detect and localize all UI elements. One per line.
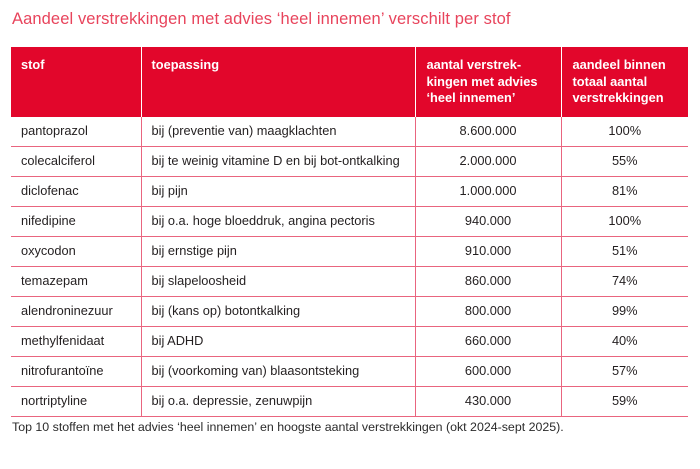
- table-header: stof toepassing aantal verstrek- kingen …: [11, 47, 688, 117]
- table-row: methylfenidaat bij ADHD 660.000 40%: [11, 327, 688, 357]
- cell-aantal: 910.000: [415, 237, 561, 267]
- cell-toepassing: bij pijn: [141, 177, 415, 207]
- table-row: diclofenac bij pijn 1.000.000 81%: [11, 177, 688, 207]
- cell-aantal: 660.000: [415, 327, 561, 357]
- table-row: nortriptyline bij o.a. depressie, zenuwp…: [11, 387, 688, 417]
- table-row: nitrofurantoïne bij (voorkoming van) bla…: [11, 357, 688, 387]
- table-header-row: stof toepassing aantal verstrek- kingen …: [11, 47, 688, 117]
- table-row: alendroninezuur bij (kans op) botontkalk…: [11, 297, 688, 327]
- table-container: stof toepassing aantal verstrek- kingen …: [11, 47, 688, 417]
- column-header-aantal-verstrekkingen: aantal verstrek- kingen met advies ‘heel…: [415, 47, 561, 117]
- table-body: pantoprazol bij (preventie van) maagklac…: [11, 117, 688, 417]
- cell-aandeel: 59%: [561, 387, 688, 417]
- cell-stof: pantoprazol: [11, 117, 141, 147]
- cell-aantal: 1.000.000: [415, 177, 561, 207]
- column-header-aandeel-line-2: totaal aantal: [573, 74, 679, 91]
- cell-aantal: 940.000: [415, 207, 561, 237]
- cell-stof: nortriptyline: [11, 387, 141, 417]
- cell-aandeel: 100%: [561, 117, 688, 147]
- cell-toepassing: bij o.a. depressie, zenuwpijn: [141, 387, 415, 417]
- cell-toepassing: bij ernstige pijn: [141, 237, 415, 267]
- cell-aandeel: 99%: [561, 297, 688, 327]
- cell-stof: methylfenidaat: [11, 327, 141, 357]
- table-row: temazepam bij slapeloosheid 860.000 74%: [11, 267, 688, 297]
- medicines-table: stof toepassing aantal verstrek- kingen …: [11, 47, 688, 417]
- page-title: Aandeel verstrekkingen met advies ‘heel …: [12, 8, 688, 30]
- table-row: oxycodon bij ernstige pijn 910.000 51%: [11, 237, 688, 267]
- table-row: colecalciferol bij te weinig vitamine D …: [11, 147, 688, 177]
- cell-aandeel: 100%: [561, 207, 688, 237]
- cell-stof: nifedipine: [11, 207, 141, 237]
- column-header-stof: stof: [11, 47, 141, 117]
- column-header-aantal-line-2: kingen met advies: [427, 74, 551, 91]
- cell-toepassing: bij slapeloosheid: [141, 267, 415, 297]
- column-header-aandeel-line-3: verstrekkingen: [573, 90, 679, 107]
- cell-aandeel: 74%: [561, 267, 688, 297]
- cell-aandeel: 55%: [561, 147, 688, 177]
- cell-toepassing: bij o.a. hoge bloeddruk, angina pectoris: [141, 207, 415, 237]
- cell-aandeel: 51%: [561, 237, 688, 267]
- cell-aandeel: 81%: [561, 177, 688, 207]
- column-header-toepassing: toepassing: [141, 47, 415, 117]
- cell-aandeel: 40%: [561, 327, 688, 357]
- cell-aantal: 600.000: [415, 357, 561, 387]
- infographic-table-page: Aandeel verstrekkingen met advies ‘heel …: [0, 0, 700, 469]
- cell-aantal: 2.000.000: [415, 147, 561, 177]
- column-header-aantal-line-1: aantal verstrek-: [427, 57, 551, 74]
- cell-toepassing: bij ADHD: [141, 327, 415, 357]
- cell-stof: oxycodon: [11, 237, 141, 267]
- column-header-aandeel-binnen-totaal: aandeel binnen totaal aantal verstrekkin…: [561, 47, 688, 117]
- cell-stof: alendroninezuur: [11, 297, 141, 327]
- cell-aantal: 8.600.000: [415, 117, 561, 147]
- cell-toepassing: bij te weinig vitamine D en bij bot-ontk…: [141, 147, 415, 177]
- cell-stof: colecalciferol: [11, 147, 141, 177]
- cell-stof: temazepam: [11, 267, 141, 297]
- table-row: nifedipine bij o.a. hoge bloeddruk, angi…: [11, 207, 688, 237]
- cell-toepassing: bij (preventie van) maagklachten: [141, 117, 415, 147]
- cell-stof: diclofenac: [11, 177, 141, 207]
- cell-toepassing: bij (voorkoming van) blaasontsteking: [141, 357, 415, 387]
- column-header-aantal-line-3: ‘heel innemen’: [427, 90, 551, 107]
- cell-stof: nitrofurantoïne: [11, 357, 141, 387]
- column-header-aandeel-line-1: aandeel binnen: [573, 57, 679, 74]
- cell-aandeel: 57%: [561, 357, 688, 387]
- cell-aantal: 860.000: [415, 267, 561, 297]
- table-caption: Top 10 stoffen met het advies ‘heel inne…: [12, 419, 676, 436]
- cell-toepassing: bij (kans op) botontkalking: [141, 297, 415, 327]
- table-row: pantoprazol bij (preventie van) maagklac…: [11, 117, 688, 147]
- cell-aantal: 800.000: [415, 297, 561, 327]
- cell-aantal: 430.000: [415, 387, 561, 417]
